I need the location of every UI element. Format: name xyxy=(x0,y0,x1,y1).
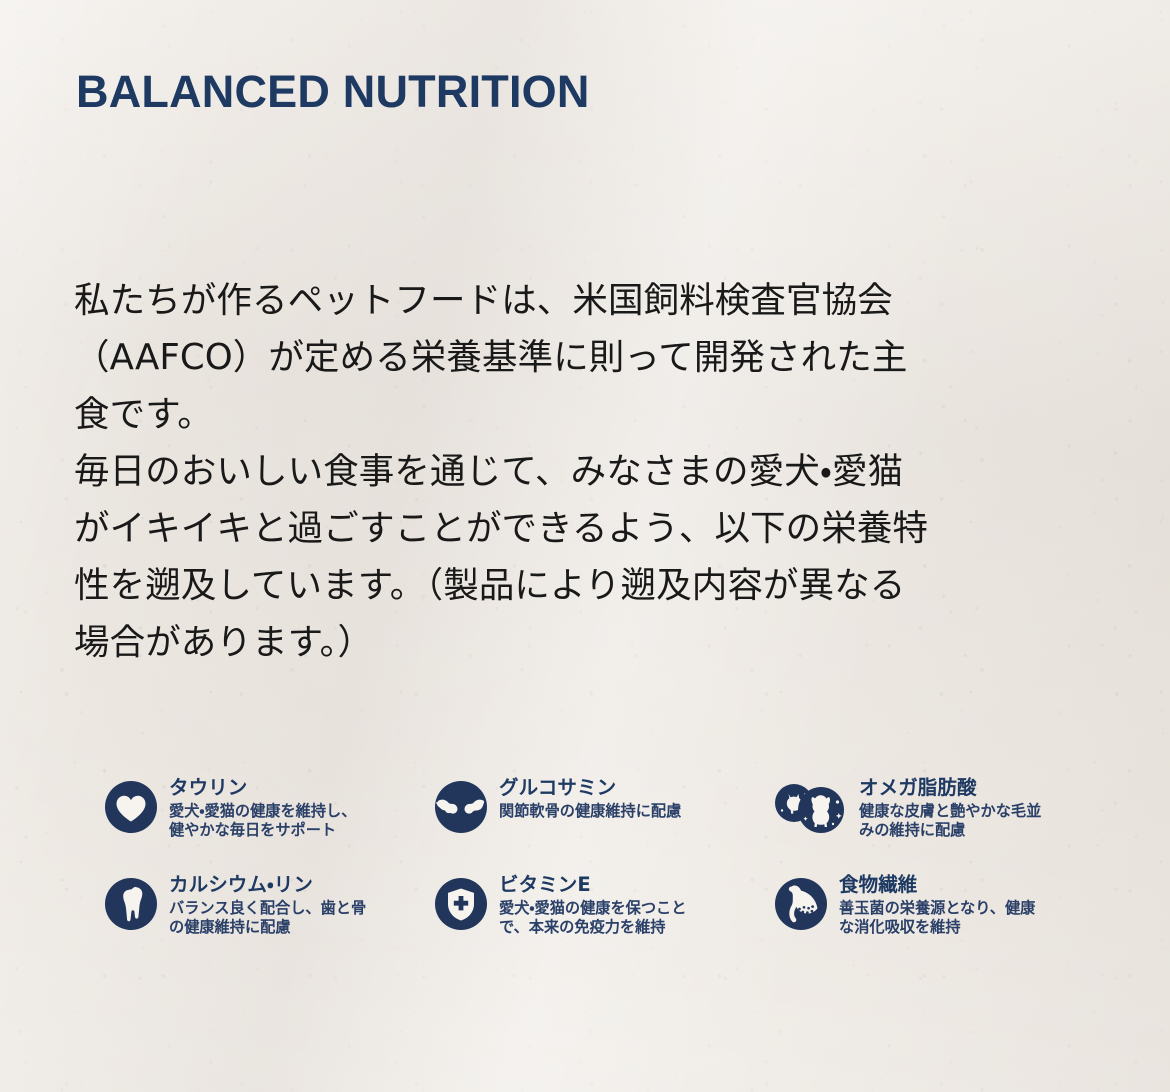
feature-dietary-fiber: 食物繊維 善玉菌の栄養源となり、健康 な消化吸収を維持 xyxy=(774,873,1104,970)
shield-plus-icon xyxy=(434,877,488,931)
feature-title: タウリン xyxy=(169,777,356,799)
body-line-4: 毎日のおいしい食事を通じて、みなさまの愛犬・愛猫 xyxy=(74,443,1104,500)
body-copy: 私たちが作るペットフードは、米国飼料検査官協会 （AAFCO）が定める栄養基準に… xyxy=(74,272,1104,671)
body-line-5: がイキイキと過ごすことができるよう、以下の栄養特 xyxy=(74,500,1104,557)
feature-description: 愛犬・愛猫の健康を保つこと で、本来の免疫力を維持 xyxy=(499,899,686,938)
feature-vitamin-e: ビタミンE 愛犬・愛猫の健康を保つこと で、本来の免疫力を維持 xyxy=(434,873,774,970)
bone-joint-icon xyxy=(434,780,488,834)
feature-glucosamine: グルコサミン 関節軟骨の健康維持に配慮 xyxy=(434,776,774,873)
nutrition-feature-grid: タウリン 愛犬・愛猫の健康を維持し、 健やかな毎日をサポート xyxy=(104,776,1104,970)
heart-icon xyxy=(104,780,158,834)
page-background: BALANCED NUTRITION 私たちが作るペットフードは、米国飼料検査官… xyxy=(0,0,1170,1092)
feature-description: バランス良く配合し、歯と骨 の健康維持に配慮 xyxy=(169,899,366,938)
feature-calcium-phosphorus: カルシウム・リン バランス良く配合し、歯と骨 の健康維持に配慮 xyxy=(104,873,434,970)
feature-description: 善玉菌の栄養源となり、健康 な消化吸収を維持 xyxy=(839,899,1035,938)
body-line-3: 食です。 xyxy=(74,386,1104,443)
feature-title: グルコサミン xyxy=(499,777,681,799)
feature-title: オメガ脂肪酸 xyxy=(859,777,1041,799)
feature-description: 愛犬・愛猫の健康を維持し、 健やかな毎日をサポート xyxy=(169,802,356,841)
feature-description: 関節軟骨の健康維持に配慮 xyxy=(499,802,681,821)
body-line-7: 場合があります。） xyxy=(74,614,1104,671)
feature-title: ビタミンE xyxy=(499,874,686,896)
dog-cat-sparkle-icon xyxy=(774,780,848,834)
feature-omega-fatty-acid: オメガ脂肪酸 健康な皮膚と艶やかな毛並 みの維持に配慮 xyxy=(774,776,1104,873)
feature-taurine: タウリン 愛犬・愛猫の健康を維持し、 健やかな毎日をサポート xyxy=(104,776,434,873)
feature-title: 食物繊維 xyxy=(839,874,1035,896)
page-title: BALANCED NUTRITION xyxy=(76,68,590,115)
body-line-6: 性を遡及しています。（製品により遡及内容が異なる xyxy=(74,557,1104,614)
tooth-icon xyxy=(104,877,158,931)
feature-title: カルシウム・リン xyxy=(169,874,366,896)
body-line-1: 私たちが作るペットフードは、米国飼料検査官協会 xyxy=(74,272,1104,329)
feature-description: 健康な皮膚と艶やかな毛並 みの維持に配慮 xyxy=(859,802,1041,841)
stomach-icon xyxy=(774,877,828,931)
body-line-2: （AAFCO）が定める栄養基準に則って開発された主 xyxy=(74,329,1104,386)
